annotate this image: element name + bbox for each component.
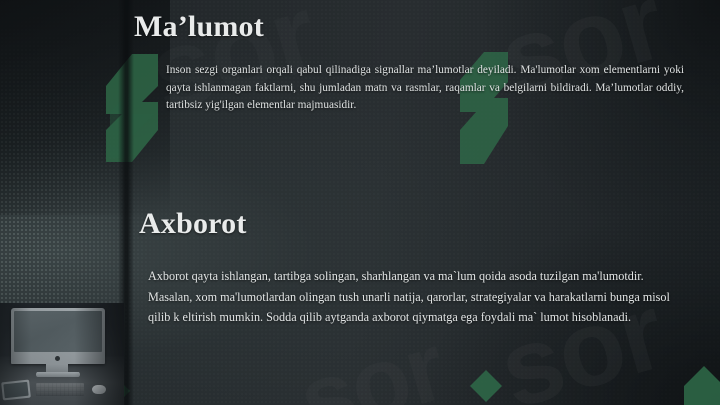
heading-axborot: Axborot bbox=[139, 207, 247, 241]
presentation-slide: sor sor sor sor bbox=[0, 0, 720, 405]
slide-content: Ma’lumot Inson sezgi organlari orqali qa… bbox=[0, 0, 720, 405]
paragraph-axborot: Axborot qayta ishlangan, tartibga soling… bbox=[148, 266, 690, 328]
paragraph-malumot: Inson sezgi organlari orqali qabul qilin… bbox=[166, 62, 684, 115]
heading-malumot: Ma’lumot bbox=[134, 10, 264, 44]
